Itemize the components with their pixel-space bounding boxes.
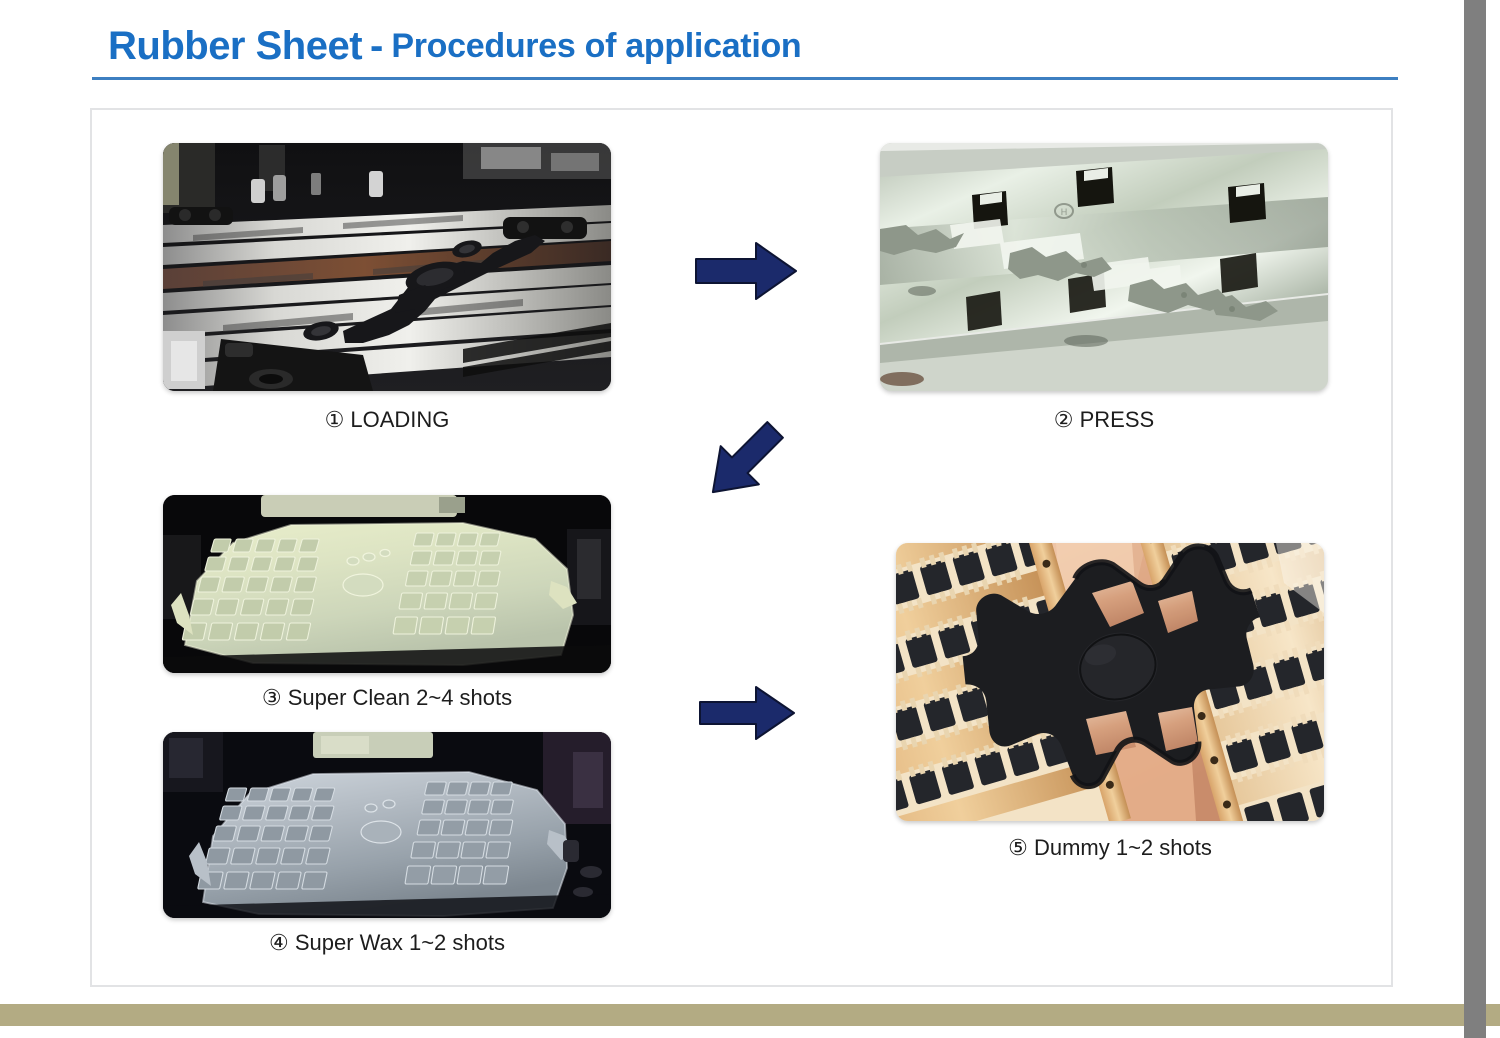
step-2-panel: H ② PRESS	[880, 143, 1328, 391]
step-5-panel: ⑤ Dummy 1~2 shots	[896, 543, 1324, 821]
page-title: Rubber Sheet - Procedures of application	[108, 18, 801, 74]
step-4-panel: ④ Super Wax 1~2 shots	[163, 732, 611, 918]
step-3-panel: ③ Super Clean 2~4 shots	[163, 495, 611, 673]
right-edge-bar	[1464, 0, 1486, 1038]
title-dash: -	[370, 24, 383, 69]
svg-text:H: H	[1061, 207, 1068, 217]
title-subtitle-text: Procedures of application	[391, 27, 801, 66]
arrow-superwax-to-dummy	[698, 684, 796, 742]
title-main-text: Rubber Sheet	[108, 24, 362, 69]
super-wax-sheet-photo	[163, 732, 611, 918]
arrow-right-icon	[694, 240, 798, 302]
step-1-panel: ① LOADING	[163, 143, 611, 391]
bottom-accent-bar	[0, 1004, 1500, 1026]
loading-machine-photo	[163, 143, 611, 391]
arrow-down-left-icon	[694, 418, 794, 504]
super-clean-sheet-photo	[163, 495, 611, 673]
step-1-caption: ① LOADING	[163, 407, 611, 433]
step-4-caption: ④ Super Wax 1~2 shots	[163, 930, 611, 956]
dummy-leadframe-photo	[896, 543, 1324, 821]
title-divider-rule	[92, 77, 1398, 80]
arrow-loading-to-press	[694, 240, 798, 302]
arrow-right-icon	[698, 684, 796, 742]
step-3-caption: ③ Super Clean 2~4 shots	[163, 685, 611, 711]
press-mold-photo: H	[880, 143, 1328, 391]
arrow-press-to-superclean	[694, 418, 794, 504]
slide-canvas: Rubber Sheet - Procedures of application	[0, 0, 1500, 1038]
step-5-caption: ⑤ Dummy 1~2 shots	[896, 835, 1324, 861]
step-2-caption: ② PRESS	[880, 407, 1328, 433]
